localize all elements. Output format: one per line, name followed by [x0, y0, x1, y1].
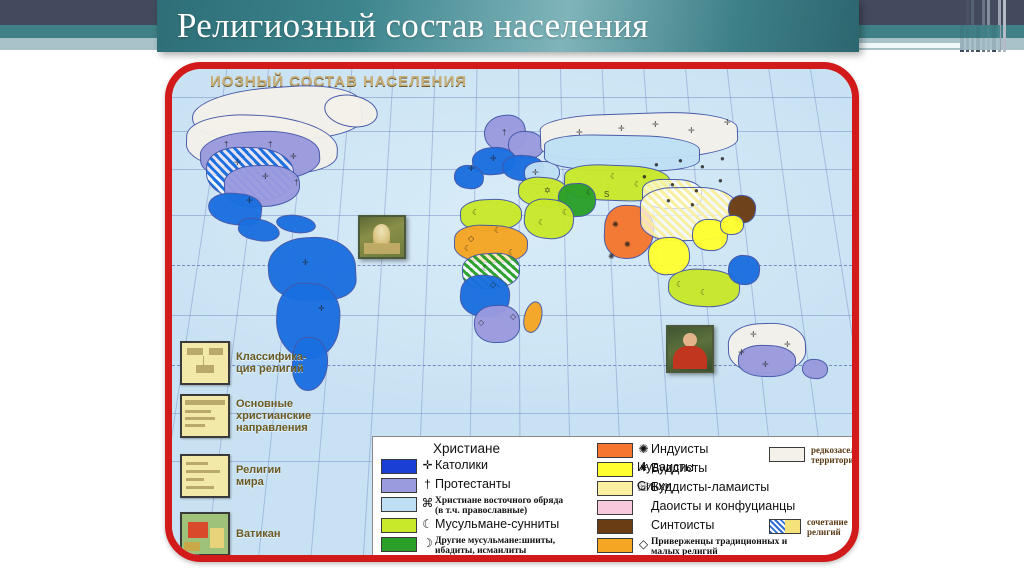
legend-symbol: ☽ — [420, 535, 435, 551]
inset-world-religions[interactable]: Религии мира — [180, 454, 281, 498]
inset-thumb-christian-branches — [180, 394, 230, 438]
legend-row: редкозаселенные территории — [769, 445, 852, 463]
legend-row: ✺Индуисты — [597, 441, 797, 459]
legend-label: Христиане восточного обряда (в т.ч. прав… — [435, 495, 563, 516]
legend-swatch — [597, 519, 633, 534]
legend-symbol: ✷ — [636, 460, 651, 476]
map-religion-symbol: ● — [718, 177, 723, 185]
legend-label: Католики — [435, 457, 488, 473]
legend-swatch — [381, 518, 417, 533]
header-stripe — [1003, 0, 1006, 52]
landmass-southern-africa-protestant — [473, 304, 520, 344]
legend-symbol: ☏ — [636, 479, 651, 495]
legend-symbol: † — [420, 476, 435, 492]
legend-swatch — [597, 481, 633, 496]
legend-swatch — [769, 519, 801, 534]
legend-label: сочетание религий — [807, 517, 848, 537]
inset-vatican[interactable]: Ватикан — [180, 512, 280, 555]
legend-row: ⌘Христиане восточного обряда (в т.ч. пра… — [381, 495, 586, 515]
legend-swatch — [597, 538, 633, 553]
legend-row: ✛Католики — [381, 457, 586, 475]
legend-row: ☏Буддисты-ламаисты — [597, 479, 797, 497]
map-religion-symbol: ● — [720, 155, 725, 163]
landmass-korea — [719, 214, 745, 236]
legend-symbol: ☾ — [420, 516, 435, 532]
temple-photo[interactable] — [358, 215, 406, 259]
landmass-caribbean — [275, 212, 317, 235]
header-banner: Религиозный состав населения — [0, 0, 1024, 60]
legend-row: †Протестанты — [381, 476, 586, 494]
inset-thumb-world-religions — [180, 454, 230, 498]
inset-thumb-classification — [180, 341, 230, 385]
legend-swatch — [381, 478, 417, 493]
legend-label: Даоисты и конфуцианцы — [651, 498, 795, 514]
legend-row: Даоисты и конфуцианцы — [597, 498, 797, 516]
legend-label: редкозаселенные территории — [811, 445, 852, 465]
map-legend: Христиане ✛Католики†Протестанты⌘Христиан… — [372, 436, 852, 555]
legend-row: ✷Буддисты — [597, 460, 797, 478]
monk-head-shape — [683, 333, 697, 347]
legend-row: ◇Приверженцы традиционных и малых религи… — [597, 536, 797, 555]
inset-thumb-vatican — [180, 512, 230, 555]
inset-label-classification: Классифика- ция религий — [236, 351, 307, 375]
inset-label-christian-branches: Основные христианские направления — [236, 398, 311, 434]
legend-row: ☾Мусульмане-сунниты — [381, 516, 586, 534]
temple-base-shape — [364, 243, 400, 254]
landmass-new-zealand — [801, 358, 829, 381]
landmass-madagascar — [520, 299, 545, 334]
inset-label-vatican: Ватикан — [236, 528, 280, 540]
legend-column-eastern: ✺Индуисты✷Буддисты☏Буддисты-ламаистыДаои… — [597, 441, 797, 555]
monk-photo[interactable] — [666, 325, 714, 373]
legend-swatch — [769, 447, 805, 462]
legend-label: Протестанты — [435, 476, 511, 492]
legend-swatch — [597, 443, 633, 458]
legend-symbol: ✺ — [636, 441, 651, 457]
legend-swatch — [381, 497, 417, 512]
legend-symbol: ✛ — [420, 457, 435, 473]
map-canvas: ИОЗНЫЙ СОСТАВ НАСЕЛЕНИЯ ✛✛✛✛✛✛†††✛†✛✛✛✛✛… — [172, 69, 852, 555]
legend-label: Буддисты-ламаисты — [651, 479, 769, 495]
legend-symbol: ⌘ — [420, 495, 435, 511]
monk-robe-shape — [673, 346, 707, 369]
landmass-central-america — [236, 215, 282, 245]
legend-label: Другие мусульмане:шииты, ибадиты, исмаил… — [435, 535, 555, 555]
legend-label: Буддисты — [651, 460, 707, 476]
legend-column-christians: Христиане ✛Католики†Протестанты⌘Христиан… — [381, 441, 586, 555]
header-stripe-band — [960, 25, 1000, 38]
header-stripe-band — [960, 38, 1000, 50]
legend-swatch — [381, 537, 417, 552]
temple-dome-shape — [373, 224, 390, 244]
map-religion-symbol: ● — [700, 163, 705, 171]
legend-label: Мусульмане-сунниты — [435, 516, 559, 532]
inset-label-world-religions: Религии мира — [236, 464, 281, 488]
legend-label: Индуисты — [651, 441, 708, 457]
legend-label: Приверженцы традиционных и малых религий — [651, 536, 787, 555]
legend-symbol: ◇ — [636, 536, 651, 552]
landmass-australia-protestant — [737, 344, 796, 378]
legend-row: Синтоисты — [597, 517, 797, 535]
inset-classification[interactable]: Классифика- ция религий — [180, 341, 307, 385]
legend-row: сочетание религий — [769, 517, 848, 535]
inset-christian-branches[interactable]: Основные христианские направления — [180, 394, 311, 438]
title-banner: Религиозный состав населения — [157, 0, 859, 52]
legend-row: ☽Другие мусульмане:шииты, ибадиты, исмаи… — [381, 535, 586, 555]
header-stripes — [960, 0, 1024, 52]
landmass-philippines-catholic — [727, 254, 761, 287]
legend-swatch — [381, 459, 417, 474]
map-frame: ИОЗНЫЙ СОСТАВ НАСЕЛЕНИЯ ✛✛✛✛✛✛†††✛†✛✛✛✛✛… — [165, 62, 859, 562]
legend-swatch — [597, 500, 633, 515]
legend-heading: Христиане — [433, 441, 586, 456]
legend-swatch — [597, 462, 633, 477]
legend-label: Синтоисты — [651, 517, 714, 533]
page-title: Религиозный состав населения — [177, 1, 857, 51]
